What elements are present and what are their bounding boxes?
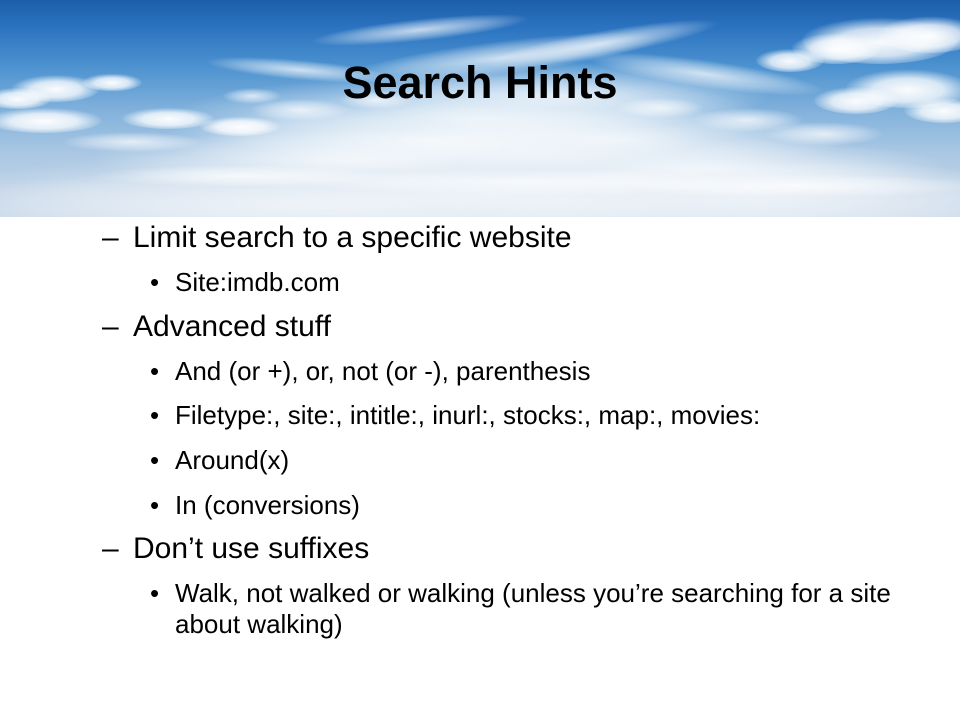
bullet-text: Don’t use suffixes (133, 532, 369, 565)
bullet-text: In (conversions) (175, 490, 892, 521)
bullet-level1: –Don’t use suffixes (102, 534, 892, 564)
bullet-level2: •Site:imdb.com (102, 267, 892, 298)
slide-body: –Limit search to a specific website •Sit… (0, 217, 960, 720)
dash-bullet-icon: – (102, 223, 119, 253)
dot-bullet-icon: • (150, 578, 159, 609)
bullet-text: Limit search to a specific website (133, 221, 572, 254)
bullet-level1: –Advanced stuff (102, 312, 892, 342)
bullet-level2: •Filetype:, site:, intitle:, inurl:, sto… (102, 400, 892, 431)
bullet-level2: •And (or +), or, not (or -), parenthesis (102, 356, 892, 387)
dot-bullet-icon: • (150, 267, 159, 298)
dot-bullet-icon: • (150, 356, 159, 387)
bullet-text: Advanced stuff (133, 310, 331, 343)
bullet-text: Filetype:, site:, intitle:, inurl:, stoc… (175, 400, 892, 431)
bullet-level2: •Around(x) (102, 445, 892, 476)
slide-title: Search Hints (0, 57, 960, 109)
slide: Search Hints –Limit search to a specific… (0, 0, 960, 720)
dash-bullet-icon: – (102, 312, 119, 342)
dot-bullet-icon: • (150, 490, 159, 521)
bullet-text: And (or +), or, not (or -), parenthesis (175, 356, 892, 387)
bullet-text: Around(x) (175, 445, 892, 476)
dash-bullet-icon: – (102, 534, 119, 564)
bullet-level2: •Walk, not walked or walking (unless you… (102, 578, 892, 639)
bullet-level1: –Limit search to a specific website (102, 223, 892, 253)
bullet-text: Walk, not walked or walking (unless you’… (175, 578, 892, 639)
bullet-list: –Limit search to a specific website •Sit… (102, 223, 892, 640)
dot-bullet-icon: • (150, 400, 159, 431)
bullet-level2: •In (conversions) (102, 490, 892, 521)
bullet-text: Site:imdb.com (175, 267, 892, 298)
dot-bullet-icon: • (150, 445, 159, 476)
